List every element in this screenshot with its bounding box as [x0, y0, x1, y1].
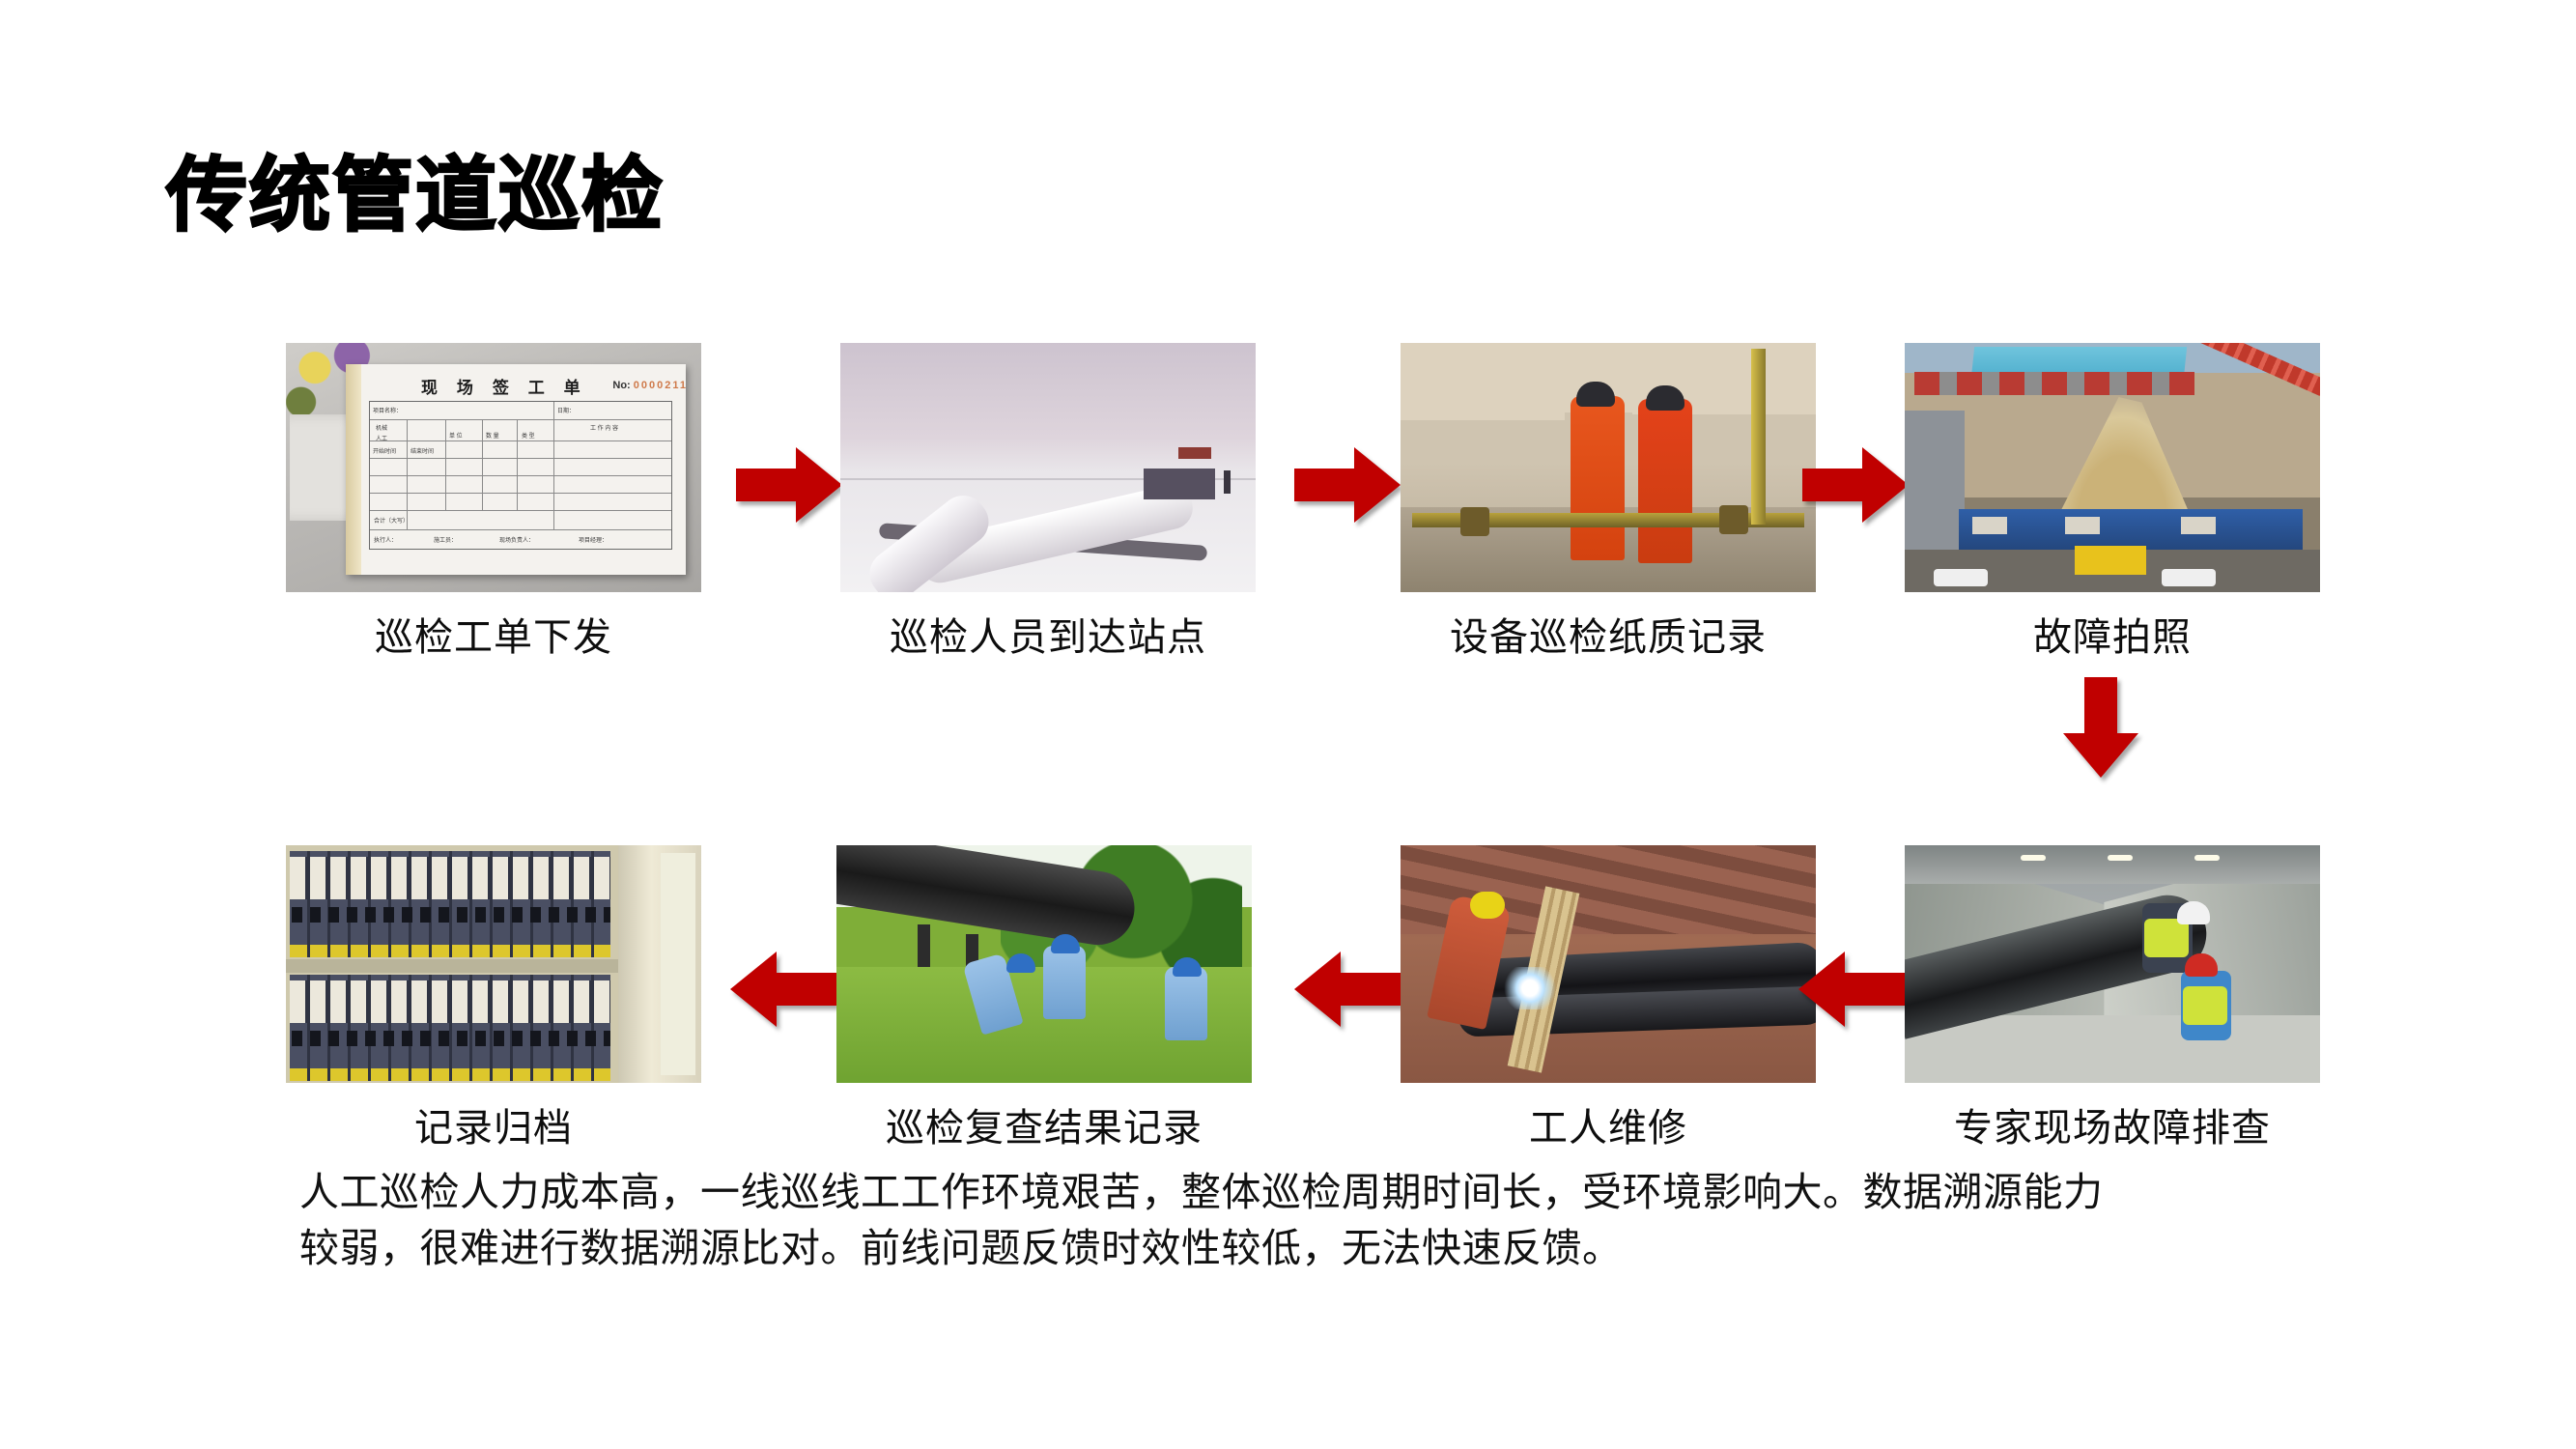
form-field-qty: 数 量 [486, 431, 499, 440]
arrow-step8-to-step7 [1798, 952, 1905, 1027]
form-number-value: 0000211 [634, 380, 688, 391]
form-field-executor: 执行人： [374, 535, 397, 544]
flow-step-4[interactable]: 故障拍照 [1905, 343, 2330, 662]
form-number: No: 0000211 [612, 380, 688, 391]
snow-pipeline-photo [840, 343, 1256, 592]
form-field-foreman: 施工员： [434, 535, 457, 544]
flow-step-4-caption: 故障拍照 [1905, 606, 2320, 662]
form-field-machine: 机械 [376, 423, 387, 432]
flow-step-3-caption: 设备巡检纸质记录 [1401, 606, 1816, 662]
form-field-pm: 项目经理： [579, 535, 608, 544]
form-number-label: No: [612, 380, 630, 391]
archive-shelves-photo [286, 845, 701, 1083]
wellhead-workers-photo [1401, 343, 1816, 592]
page-title: 传统管道巡检 [166, 155, 665, 236]
form-field-start: 开始时间 [373, 446, 396, 455]
flow-step-3[interactable]: 设备巡检纸质记录 [1401, 343, 1826, 662]
slide-canvas: 传统管道巡检 现 场 签 工 单 No: 0000211 [0, 0, 2576, 1449]
form-field-end: 结束时间 [410, 446, 434, 455]
arrow-step4-to-step8 [2063, 677, 2138, 778]
welding-repair-photo [1401, 845, 1816, 1083]
flow-step-1[interactable]: 现 场 签 工 单 No: 0000211 [286, 343, 711, 662]
summary-paragraph: 人工巡检人力成本高，一线巡线工工作环境艰苦，整体巡检周期时间长，受环境影响大。数… [299, 1164, 2299, 1276]
form-field-site-lead: 现场负责人： [499, 535, 534, 544]
arrow-step6-to-step5 [730, 952, 836, 1027]
summary-line-1: 人工巡检人力成本高，一线巡线工工作环境艰苦，整体巡检周期时间长，受环境影响大。数… [299, 1164, 2299, 1220]
arrow-step2-to-step3 [1294, 447, 1401, 523]
flow-step-6[interactable]: 巡检复查结果记录 [836, 845, 1261, 1152]
pipe-burst-street-photo [1905, 343, 2320, 592]
form-field-project: 项目名称： [373, 406, 402, 414]
grass-pipeline-inspection-photo [836, 845, 1252, 1083]
flow-row-bottom: 记录归档 [0, 768, 2576, 1193]
form-grid: 项目名称： 日期： 机械 人工 开始时间 结束时间 单 位 数 量 类 型 工 … [369, 401, 672, 550]
paper-work-order-photo: 现 场 签 工 单 No: 0000211 [286, 343, 701, 592]
form-field-unit: 单 位 [449, 431, 463, 440]
flow-step-7[interactable]: 工人维修 [1401, 845, 1826, 1152]
flow-step-1-caption: 巡检工单下发 [286, 606, 701, 662]
flow-step-2-caption: 巡检人员到达站点 [840, 606, 1256, 662]
form-field-total: 合计（大写） [374, 516, 409, 525]
flow-step-7-caption: 工人维修 [1401, 1096, 1816, 1152]
flow-step-8[interactable]: 专家现场故障排查 [1905, 845, 2330, 1152]
arrow-step7-to-step6 [1294, 952, 1401, 1027]
arrow-step1-to-step2 [736, 447, 842, 523]
form-field-type: 类 型 [522, 431, 535, 440]
arrow-step3-to-step4 [1802, 447, 1909, 523]
utility-tunnel-inspection-photo [1905, 845, 2320, 1083]
form-field-content: 工 作 内 容 [590, 423, 618, 432]
flow-step-2[interactable]: 巡检人员到达站点 [840, 343, 1265, 662]
summary-line-2: 较弱，很难进行数据溯源比对。前线问题反馈时效性较低，无法快速反馈。 [299, 1220, 2299, 1276]
inspection-flow-diagram: 现 场 签 工 单 No: 0000211 [0, 343, 2576, 1193]
form-spine [346, 364, 361, 575]
flow-step-6-caption: 巡检复查结果记录 [836, 1096, 1252, 1152]
form-field-labor: 人工 [376, 434, 387, 442]
flow-step-8-caption: 专家现场故障排查 [1905, 1096, 2320, 1152]
flow-step-5-caption: 记录归档 [286, 1096, 701, 1152]
form-title: 现 场 签 工 单 [421, 374, 587, 398]
flow-step-5[interactable]: 记录归档 [286, 845, 711, 1152]
form-field-date: 日期： [557, 406, 575, 414]
flow-row-top: 现 场 签 工 单 No: 0000211 [0, 343, 2576, 768]
